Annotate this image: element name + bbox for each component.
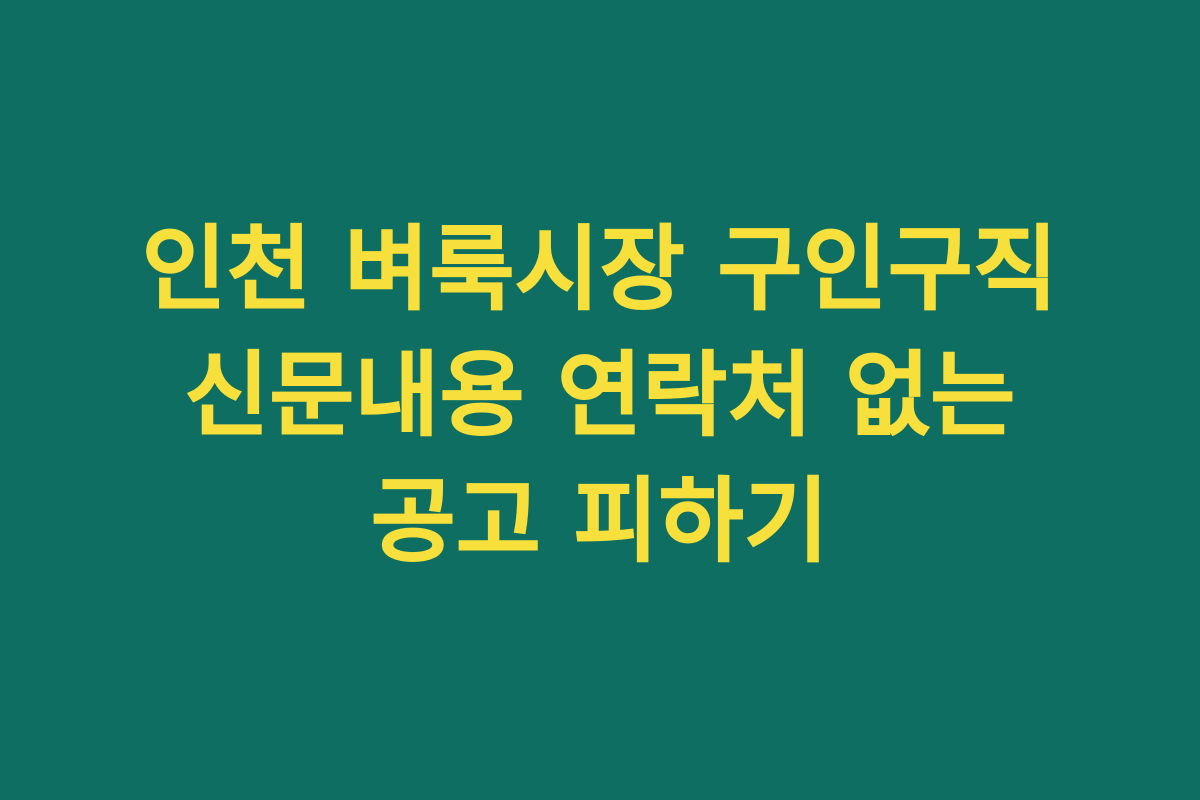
page-title: 인천 벼룩시장 구인구직 신문내용 연락처 없는 공고 피하기	[95, 207, 1105, 585]
headline-block: 인천 벼룩시장 구인구직 신문내용 연락처 없는 공고 피하기	[95, 207, 1105, 585]
banner-canvas: 인천 벼룩시장 구인구직 신문내용 연락처 없는 공고 피하기	[0, 0, 1200, 800]
